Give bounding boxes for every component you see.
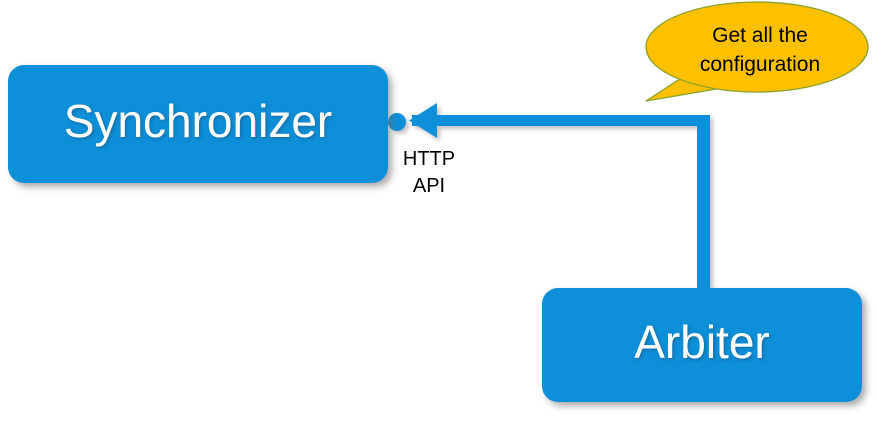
- diagram-canvas: Synchronizer Arbiter HTTP API Get all th…: [0, 0, 876, 422]
- connector-vertical-segment: [697, 115, 710, 291]
- connector-arbiter-to-synchronizer[interactable]: [388, 103, 710, 291]
- connector-label-line1: HTTP: [403, 148, 455, 170]
- connector-circle-endpoint-icon: [388, 113, 406, 131]
- connector-arrowhead-icon: [409, 103, 437, 138]
- connector-label-http-api: HTTP API: [403, 148, 455, 197]
- arbiter-label: Arbiter: [634, 316, 769, 368]
- callout-text-line2: configuration: [700, 53, 820, 76]
- node-arbiter[interactable]: Arbiter: [542, 288, 862, 402]
- connector-label-line2: API: [413, 175, 445, 197]
- synchronizer-label: Synchronizer: [64, 95, 332, 147]
- connector-horizontal-segment: [412, 115, 710, 126]
- callout-text-line1: Get all the: [712, 24, 808, 47]
- callout-bubble: [646, 2, 868, 92]
- node-synchronizer[interactable]: Synchronizer: [8, 65, 388, 183]
- diagram-svg: Synchronizer Arbiter HTTP API Get all th…: [0, 0, 876, 422]
- callout-get-configuration[interactable]: Get all the configuration: [646, 2, 868, 101]
